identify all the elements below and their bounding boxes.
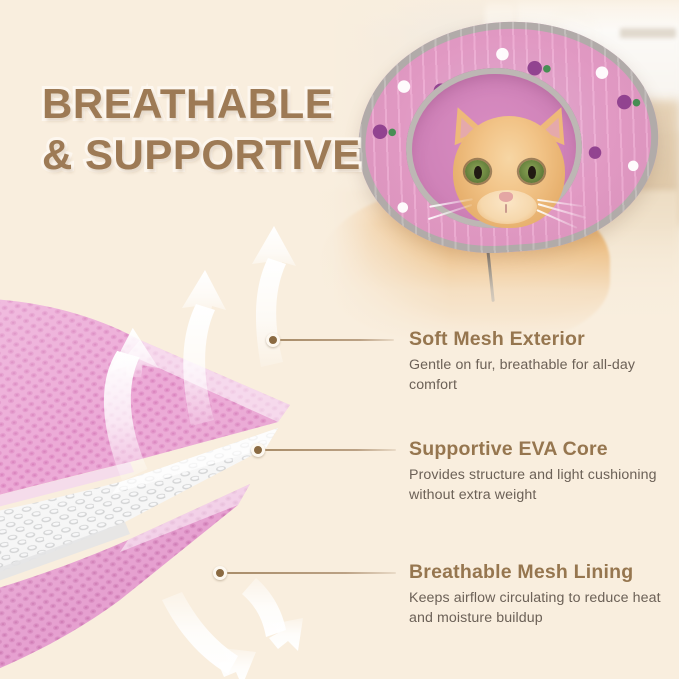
connector-dot [213,566,227,580]
connector-line [227,572,396,574]
feature-description: Keeps airflow circulating to reduce heat… [409,588,667,628]
feature-title: Breathable Mesh Lining [409,561,633,584]
infographic-canvas: BREATHABLE & SUPPORTIVE [0,0,679,679]
feature-breathable-mesh-lining: Breathable Mesh Lining Keeps airflow cir… [0,0,679,679]
